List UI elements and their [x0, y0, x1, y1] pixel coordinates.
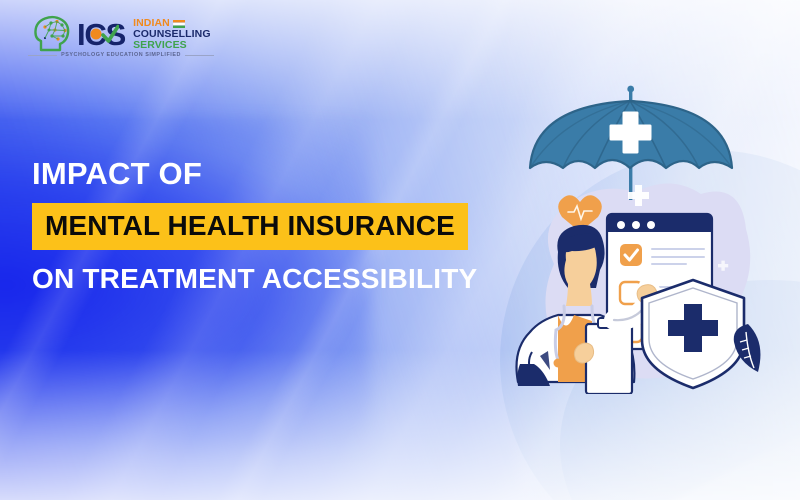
tagline-rule-left: [28, 55, 57, 56]
window-dot: [632, 221, 640, 229]
umbrella-icon: [530, 86, 732, 200]
window-dot: [617, 221, 625, 229]
headline-block: IMPACT OF MENTAL HEALTH INSURANCE ON TRE…: [32, 158, 477, 293]
logo-check-mark-icon: [89, 21, 119, 49]
logo-wordmark: INDIAN COUNSELLING SERVICES: [133, 18, 211, 50]
leaf-accent: [734, 324, 761, 372]
tagline-text: PSYCHOLOGY EDUCATION SIMPLIFIED: [61, 52, 181, 58]
brain-head-icon: [32, 14, 72, 54]
brand-logo[interactable]: ICS INDIAN COUNSELLING SERVICES: [32, 14, 211, 54]
banner-root: ICS INDIAN COUNSELLING SERVICES PSYCHOLO…: [0, 0, 800, 500]
headline-line-3: ON TREATMENT ACCESSIBILITY: [32, 265, 477, 293]
logo-word-services: SERVICES: [133, 40, 211, 51]
window-dot: [647, 221, 655, 229]
headline-highlight: MENTAL HEALTH INSURANCE: [32, 203, 468, 250]
insurance-scene-svg: [496, 74, 796, 394]
stethoscope-chestpiece: [554, 359, 563, 368]
headline-line-1: IMPACT OF: [32, 158, 477, 189]
logo-acronym: ICS: [77, 19, 125, 50]
tagline-rule-right: [185, 55, 214, 56]
checkbox-checked: [620, 244, 642, 266]
india-flag-icon: [173, 20, 185, 28]
brand-tagline: PSYCHOLOGY EDUCATION SIMPLIFIED: [28, 52, 214, 58]
hero-illustration: [496, 74, 796, 394]
